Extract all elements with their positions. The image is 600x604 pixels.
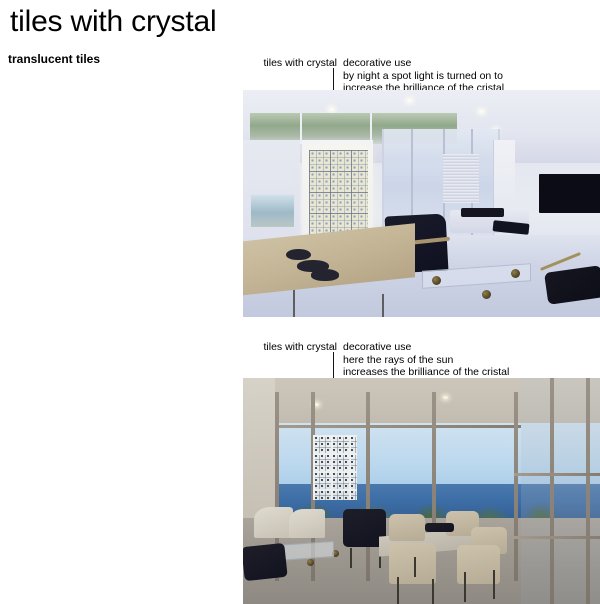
callout-bottom-body-line2: here the rays of the sun xyxy=(343,354,509,367)
callout-top-body-line1: decorative use xyxy=(343,57,504,70)
callout-top-body-line2: by night a spot light is turned on to xyxy=(343,70,504,83)
page-subtitle: translucent tiles xyxy=(8,52,100,67)
photo-night-interior xyxy=(243,90,600,317)
callout-bottom-body-line1: decorative use xyxy=(343,341,509,354)
crystal-tile-panel xyxy=(313,435,358,501)
photo-day-interior xyxy=(243,378,600,604)
callout-top-dash: - xyxy=(329,57,333,70)
callout-top-body: decorative use by night a spot light is … xyxy=(343,57,504,95)
callout-bottom-dash: - xyxy=(329,341,333,354)
wall-screen xyxy=(539,174,600,213)
callout-bottom-label: tiles with crystal xyxy=(263,341,337,354)
crystal-tile-screen xyxy=(309,150,368,236)
page-title: tiles with crystal xyxy=(10,4,216,40)
photo-night-interior-content xyxy=(243,90,600,317)
callout-bottom-body: decorative use here the rays of the sun … xyxy=(343,341,509,379)
callout-top-label: tiles with crystal xyxy=(263,57,337,70)
photo-day-interior-content xyxy=(243,378,600,604)
callout-bottom-body-line3: increases the brilliance of the cristal xyxy=(343,366,509,379)
